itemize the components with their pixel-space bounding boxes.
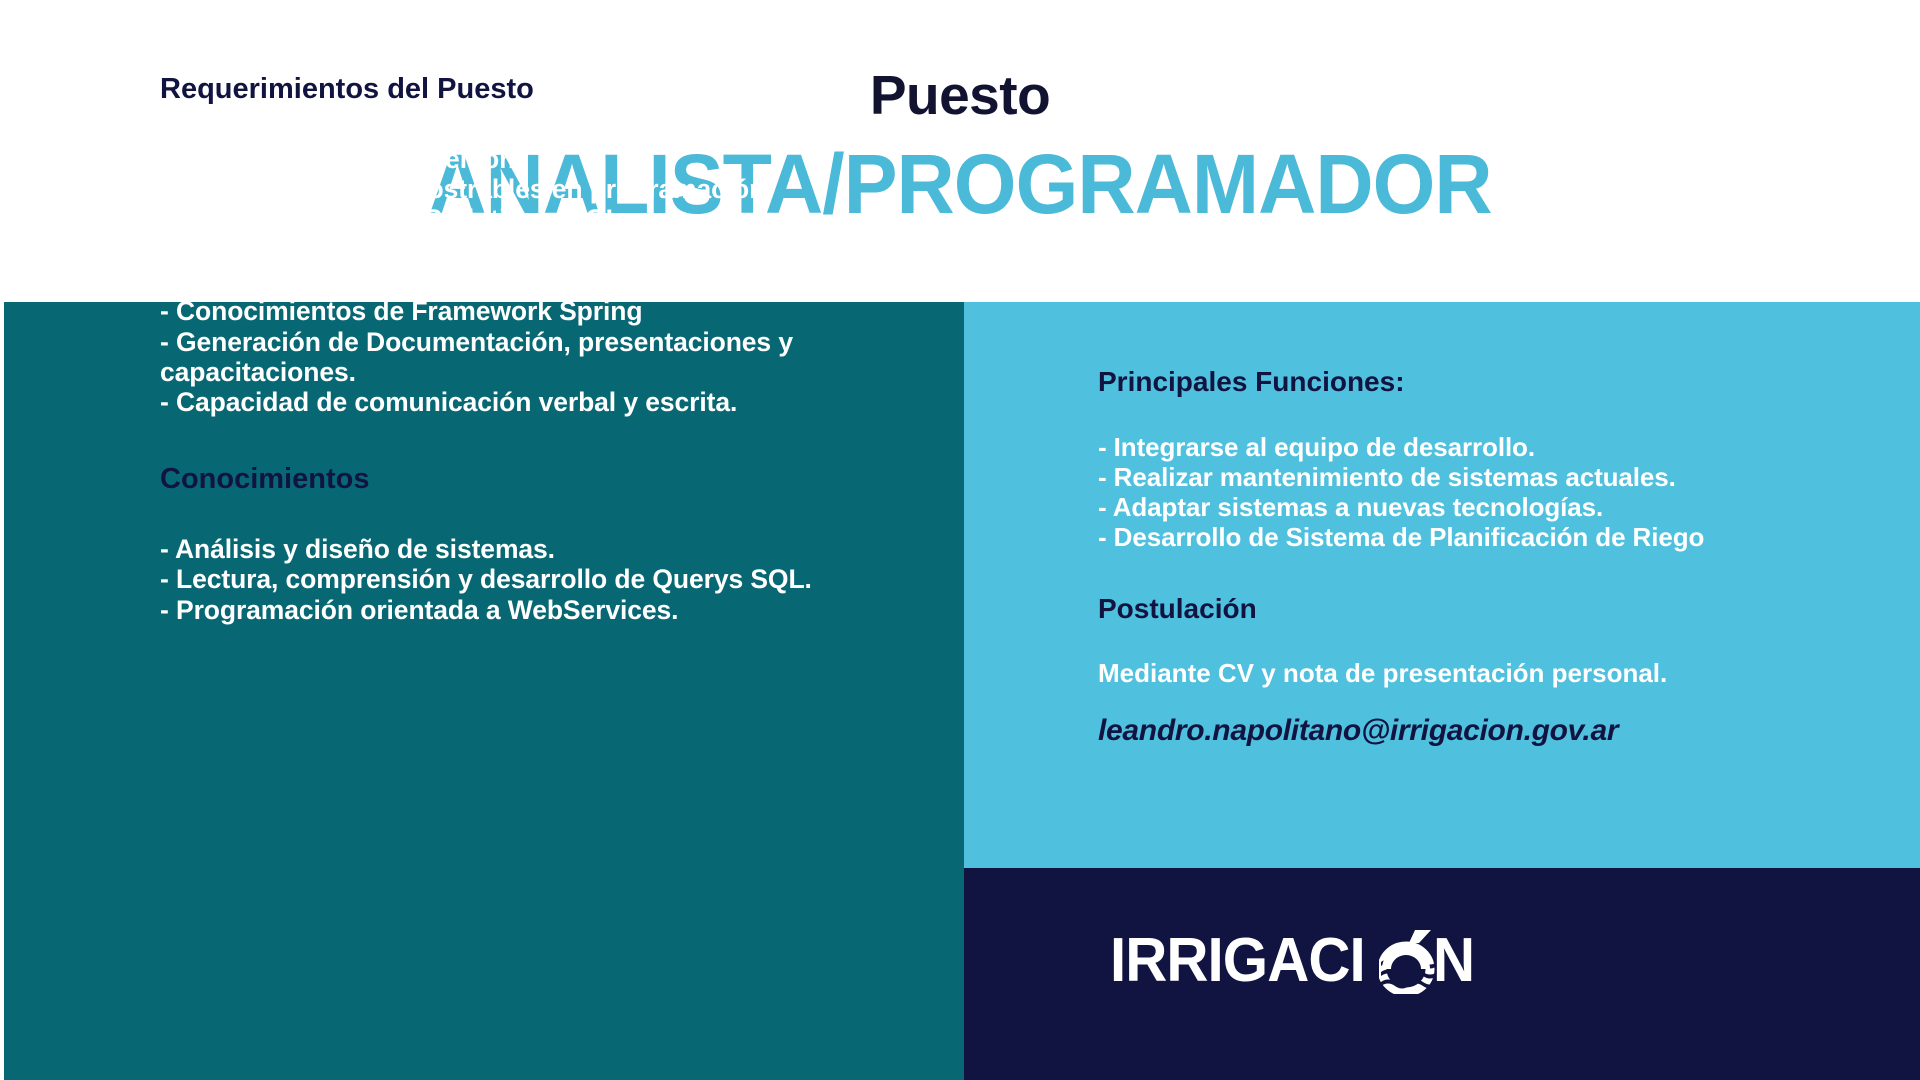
o-with-waves-icon xyxy=(1379,928,1435,994)
list-item: - Adaptar sistemas a nuevas tecnologías. xyxy=(1098,493,1838,522)
irrigacion-logo: IRRIGACI xyxy=(1110,928,1477,994)
knowledge-heading: Conocimientos xyxy=(160,462,860,497)
requirements-list: - Programador - SemiSenior. - Conocimien… xyxy=(160,145,860,418)
list-item: - Realizar mantenimiento de sistemas act… xyxy=(1098,463,1838,492)
logo-text-before: IRRIGACI xyxy=(1110,930,1365,992)
functions-content: Principales Funciones: - Integrarse al e… xyxy=(1098,365,1838,749)
functions-heading: Principales Funciones: xyxy=(1098,365,1838,399)
knowledge-list: - Análisis y diseño de sistemas. - Lectu… xyxy=(160,535,860,626)
list-item: - Lenguaje de Programación C#, JAVA. xyxy=(160,266,860,296)
list-item: - Lectura, comprensión y desarrollo de Q… xyxy=(160,565,860,595)
list-item: - Integrarse al equipo de desarrollo. xyxy=(1098,433,1838,462)
list-item: - Capacidad de comunicación verbal y esc… xyxy=(160,388,860,418)
functions-list: - Integrarse al equipo de desarrollo. - … xyxy=(1098,433,1838,552)
job-posting-poster: Puesto ANALISTA/PROGRAMADOR Requerimient… xyxy=(0,0,1920,1080)
list-item: - Conocimientos demostrables en programa… xyxy=(160,175,860,234)
list-item: - Programador - SemiSenior. xyxy=(160,145,860,175)
logo-text-after: N xyxy=(1433,930,1474,992)
requirements-heading: Requerimientos del Puesto xyxy=(160,72,860,107)
list-item: - Programación orientada a WebServices. xyxy=(160,596,860,626)
application-note: Mediante CV y nota de presentación perso… xyxy=(1098,658,1838,689)
list-item: - Conocimientos de Framework Spring xyxy=(160,297,860,327)
list-item: - Mantenimiento de sistemas actuales. xyxy=(160,236,860,266)
application-heading: Postulación xyxy=(1098,592,1838,626)
requirements-content: Requerimientos del Puesto - Programador … xyxy=(160,72,860,627)
list-item: - Generación de Documentación, presentac… xyxy=(160,328,860,387)
application-email[interactable]: leandro.napolitano@irrigacion.gov.ar xyxy=(1098,713,1838,749)
list-item: - Análisis y diseño de sistemas. xyxy=(160,535,860,565)
list-item: - Desarrollo de Sistema de Planificación… xyxy=(1098,523,1838,552)
